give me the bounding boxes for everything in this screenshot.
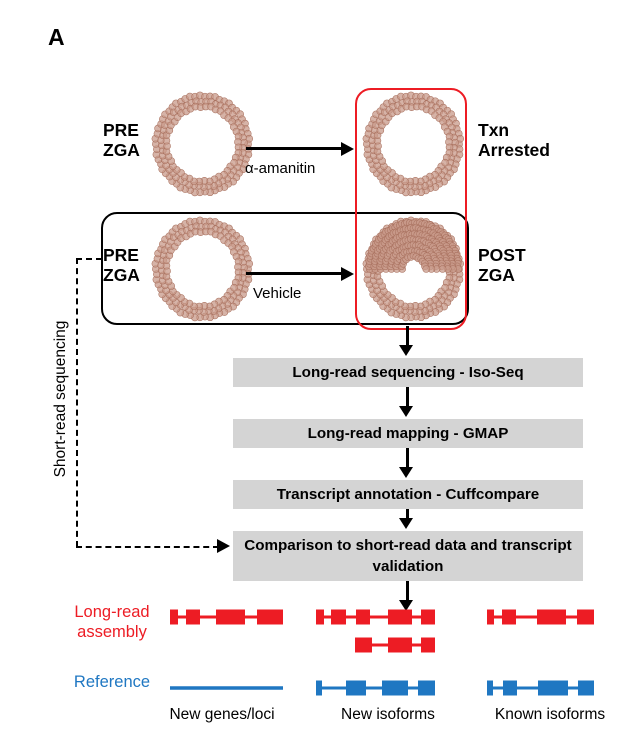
short-read-path-top bbox=[76, 258, 102, 260]
flow-arrow-head-2 bbox=[399, 467, 413, 478]
short-read-path-arrowhead bbox=[217, 539, 230, 553]
stage-label-pre-zga-top: PRE ZGA bbox=[103, 120, 140, 160]
treatment-arrow-head-vehicle bbox=[341, 267, 354, 281]
flow-arrow-head-1 bbox=[399, 406, 413, 417]
stage-label-post-zga: POST ZGA bbox=[478, 245, 526, 285]
flow-arrow-line-0 bbox=[406, 326, 409, 347]
stage-label-pre-zga-bottom: PRE ZGA bbox=[103, 245, 140, 285]
stage-label-txn-arrested: Txn Arrested bbox=[478, 120, 550, 160]
treatment-label-amanitin: α-amanitin bbox=[245, 160, 315, 177]
transcript-track-reference bbox=[0, 677, 633, 699]
panel-letter: A bbox=[48, 24, 65, 51]
pipeline-step-transcript-annotation: Transcript annotation - Cuffcompare bbox=[233, 480, 583, 509]
treatment-arrow-line-amanitin bbox=[246, 147, 343, 150]
flow-arrow-line-1 bbox=[406, 387, 409, 408]
short-read-sequencing-label: Short-read sequencing bbox=[52, 299, 70, 499]
pipeline-step-long-read-sequencing: Long-read sequencing - Iso-Seq bbox=[233, 358, 583, 387]
column-caption-new-isoforms: New isoforms bbox=[318, 706, 458, 724]
column-caption-new-genes-loci: New genes/loci bbox=[152, 706, 292, 724]
flow-arrow-line-4 bbox=[406, 581, 409, 602]
treatment-label-vehicle: Vehicle bbox=[253, 285, 301, 302]
pipeline-step-long-read-mapping: Long-read mapping - GMAP bbox=[233, 419, 583, 448]
embryo-pre-zga-bottom bbox=[150, 208, 255, 330]
column-caption-known-isoforms: Known isoforms bbox=[475, 706, 625, 724]
flow-arrow-head-0 bbox=[399, 345, 413, 356]
embryo-pre-zga-top bbox=[150, 83, 255, 205]
transcript-track-long-read-row2 bbox=[0, 634, 633, 656]
transcript-track-long-read-row1 bbox=[0, 606, 633, 628]
treatment-arrow-line-vehicle bbox=[246, 272, 343, 275]
flow-arrow-head-3 bbox=[399, 518, 413, 529]
sequenced-samples-highlight-box bbox=[355, 88, 467, 330]
short-read-path-bottom bbox=[76, 546, 219, 548]
short-read-path-vertical bbox=[76, 258, 78, 547]
pipeline-step-comparison-validation: Comparison to short-read data and transc… bbox=[233, 531, 583, 581]
flow-arrow-line-2 bbox=[406, 448, 409, 469]
treatment-arrow-head-amanitin bbox=[341, 142, 354, 156]
figure-panel-a: A PRE ZGA α-amanitin Txn Arrested PRE ZG… bbox=[0, 0, 633, 740]
